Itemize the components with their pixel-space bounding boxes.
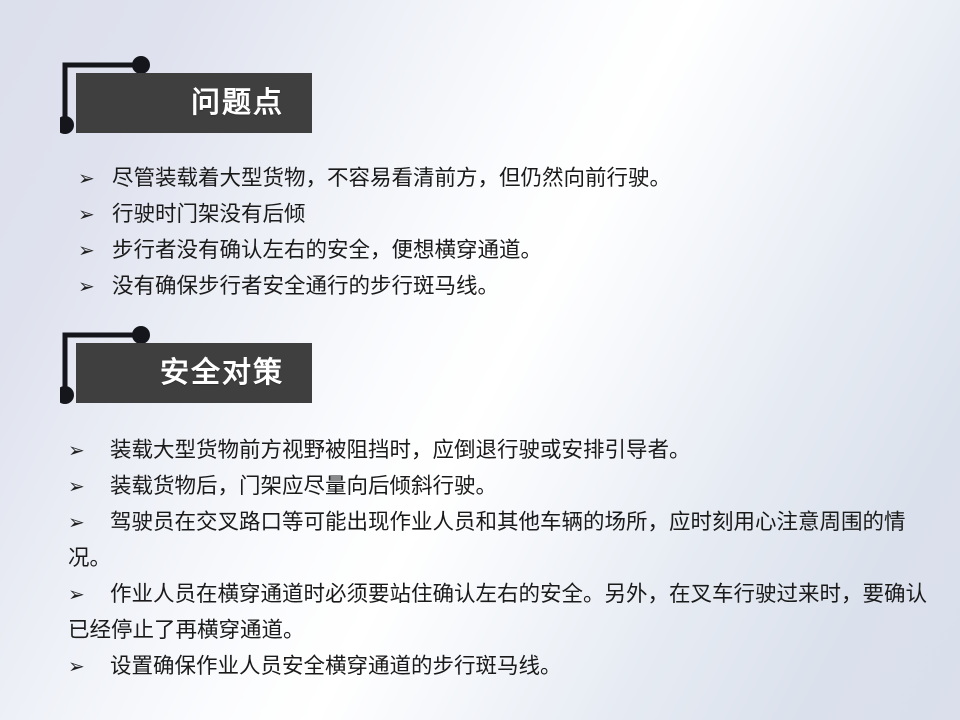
bullet-item: ➢驾驶员在交叉路口等可能出现作业人员和其他车辆的场所，应时刻用心注意周围的情况。 xyxy=(68,504,940,576)
bullet-item: ➢装载大型货物前方视野被阻挡时，应倒退行驶或安排引导者。 xyxy=(68,432,940,468)
bullet-arrow-icon: ➢ xyxy=(78,160,112,196)
bullet-item: ➢设置确保作业人员安全横穿通道的步行斑马线。 xyxy=(68,648,940,684)
section-safety-measures: 安全对策 xyxy=(60,320,320,410)
section-heading-problem-points: 问题点 xyxy=(60,50,320,140)
section-title-label: 安全对策 xyxy=(160,359,284,388)
bullet-item: ➢步行者没有确认左右的安全，便想横穿通道。 xyxy=(78,232,778,268)
bullet-text: 尽管装载着大型货物，不容易看清前方，但仍然向前行驶。 xyxy=(112,166,671,190)
bullet-arrow-icon: ➢ xyxy=(68,468,110,504)
section-heading-safety-measures: 安全对策 xyxy=(60,320,320,410)
bullet-text: 装载大型货物前方视野被阻挡时，应倒退行驶或安排引导者。 xyxy=(110,438,691,462)
bullet-item: ➢行驶时门架没有后倾 xyxy=(78,196,778,232)
bullet-arrow-icon: ➢ xyxy=(78,268,112,304)
bullet-arrow-icon: ➢ xyxy=(78,232,112,268)
bullet-item: ➢装载货物后，门架应尽量向后倾斜行驶。 xyxy=(68,468,940,504)
bullet-text: 驾驶员在交叉路口等可能出现作业人员和其他车辆的场所，应时刻用心注意周围的情况。 xyxy=(68,510,906,570)
bullet-text: 没有确保步行者安全通行的步行斑马线。 xyxy=(112,274,499,298)
bullet-list-problem-points: ➢尽管装载着大型货物，不容易看清前方，但仍然向前行驶。 ➢行驶时门架没有后倾 ➢… xyxy=(78,160,778,304)
bullet-arrow-icon: ➢ xyxy=(68,576,110,612)
section-title-badge-safety-measures: 安全对策 xyxy=(76,343,312,403)
slide-canvas: 问题点 ➢尽管装载着大型货物，不容易看清前方，但仍然向前行驶。 ➢行驶时门架没有… xyxy=(0,0,960,720)
bullet-text: 作业人员在横穿通道时必须要站住确认左右的安全。另外，在叉车行驶过来时，要确认已经… xyxy=(68,582,927,642)
bullet-arrow-icon: ➢ xyxy=(68,648,110,684)
bullet-item: ➢没有确保步行者安全通行的步行斑马线。 xyxy=(78,268,778,304)
bullet-item: ➢作业人员在横穿通道时必须要站住确认左右的安全。另外，在叉车行驶过来时，要确认已… xyxy=(68,576,940,648)
bullet-text: 装载货物后，门架应尽量向后倾斜行驶。 xyxy=(110,474,497,498)
bullet-text: 步行者没有确认左右的安全，便想横穿通道。 xyxy=(112,238,542,262)
bullet-text: 行驶时门架没有后倾 xyxy=(112,202,306,226)
bullet-arrow-icon: ➢ xyxy=(68,432,110,468)
bullet-arrow-icon: ➢ xyxy=(68,504,110,540)
section-title-badge-problem-points: 问题点 xyxy=(76,73,312,133)
bullet-arrow-icon: ➢ xyxy=(78,196,112,232)
bullet-list-safety-measures: ➢装载大型货物前方视野被阻挡时，应倒退行驶或安排引导者。 ➢装载货物后，门架应尽… xyxy=(68,432,940,684)
bullet-item: ➢尽管装载着大型货物，不容易看清前方，但仍然向前行驶。 xyxy=(78,160,778,196)
section-problem-points: 问题点 xyxy=(60,50,320,140)
section-title-label: 问题点 xyxy=(191,89,284,118)
bullet-text: 设置确保作业人员安全横穿通道的步行斑马线。 xyxy=(110,654,562,678)
